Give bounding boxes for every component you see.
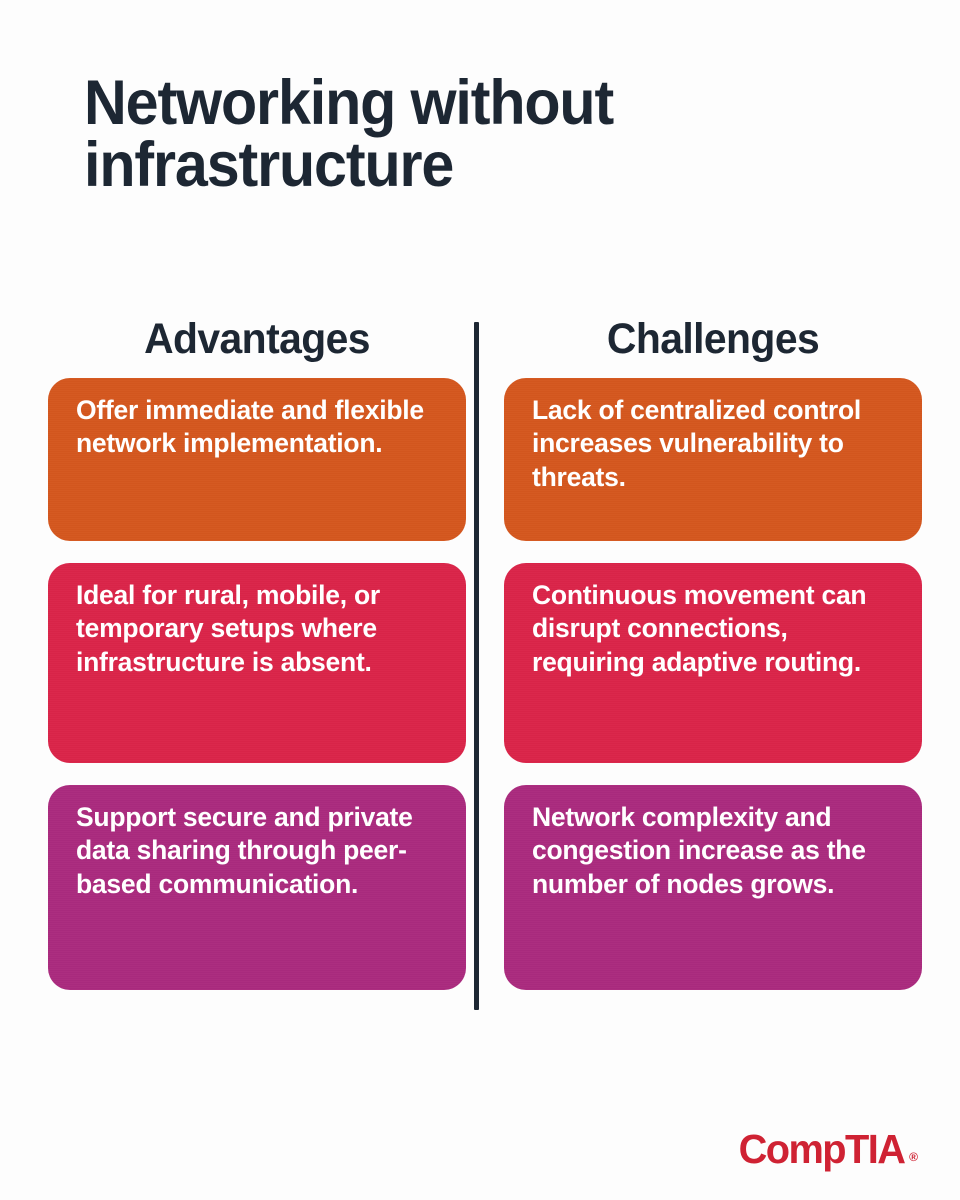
comparison-columns: Advantages Offer immediate and flexible … — [0, 318, 960, 1012]
comptia-logo-text: CompTIA — [739, 1129, 905, 1170]
challenge-card-2-text: Continuous movement can disrupt connecti… — [532, 579, 902, 679]
challenge-card-2: Continuous movement can disrupt connecti… — [504, 563, 922, 763]
registered-trademark-icon: ® — [909, 1150, 918, 1164]
advantage-card-3-text: Support secure and private data sharing … — [76, 801, 446, 901]
advantage-card-2-text: Ideal for rural, mobile, or temporary se… — [76, 579, 446, 679]
challenge-card-3-text: Network complexity and congestion increa… — [532, 801, 902, 901]
infographic-canvas: Networking without infrastructure Advant… — [0, 0, 960, 1200]
challenge-card-1: Lack of centralized control increases vu… — [504, 378, 922, 541]
advantage-card-2: Ideal for rural, mobile, or temporary se… — [48, 563, 466, 763]
advantage-card-3: Support secure and private data sharing … — [48, 785, 466, 990]
column-heading-advantages: Advantages — [58, 318, 455, 362]
column-heading-challenges: Challenges — [514, 318, 911, 362]
page-title: Networking without infrastructure — [84, 72, 827, 197]
advantage-card-1-text: Offer immediate and flexible network imp… — [76, 394, 446, 461]
column-advantages: Advantages Offer immediate and flexible … — [48, 318, 466, 1012]
column-challenges: Challenges Lack of centralized control i… — [504, 318, 922, 1012]
challenge-card-1-text: Lack of centralized control increases vu… — [532, 394, 902, 494]
challenge-card-3: Network complexity and congestion increa… — [504, 785, 922, 990]
comptia-logo: CompTIA ® — [736, 1129, 918, 1170]
title-block: Networking without infrastructure — [84, 72, 874, 197]
advantage-card-1: Offer immediate and flexible network imp… — [48, 378, 466, 541]
